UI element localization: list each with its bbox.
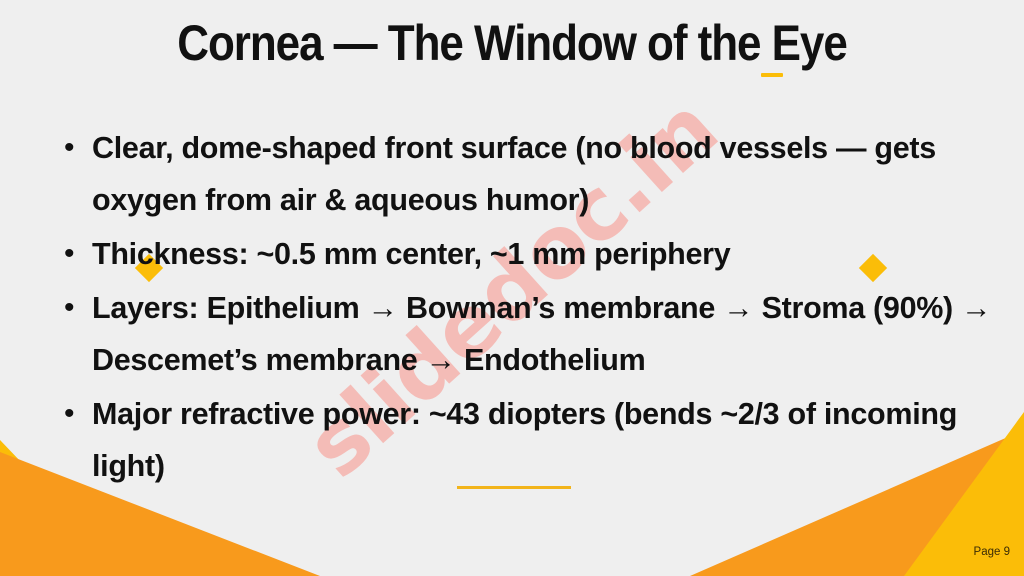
bullet-item-1: • Clear, dome-shaped front surface (no b… bbox=[56, 122, 1006, 226]
bullet-marker-icon: • bbox=[56, 388, 92, 440]
bullet-text-3: Layers: Epithelium → Bowman’s membrane →… bbox=[92, 282, 1006, 386]
body-accent-underline bbox=[457, 486, 571, 489]
bullet-text-1: Clear, dome-shaped front surface (no blo… bbox=[92, 122, 1006, 226]
title-accent-underline bbox=[761, 73, 783, 77]
bullet-text-2: Thickness: ~0.5 mm center, ~1 mm periphe… bbox=[92, 228, 1006, 280]
slide-canvas: slidedoc.in Cornea — The Window of the E… bbox=[0, 0, 1024, 576]
bullet-marker-icon: • bbox=[56, 282, 92, 334]
bullet-marker-icon: • bbox=[56, 122, 92, 174]
bullet-marker-icon: • bbox=[56, 228, 92, 280]
bullet-item-3: • Layers: Epithelium → Bowman’s membrane… bbox=[56, 282, 1006, 386]
bullet-item-2: • Thickness: ~0.5 mm center, ~1 mm perip… bbox=[56, 228, 1006, 280]
page-number-label: Page 9 bbox=[974, 546, 1010, 558]
bullet-text-4: Major refractive power: ~43 diopters (be… bbox=[92, 388, 1006, 492]
bullet-item-4: • Major refractive power: ~43 diopters (… bbox=[56, 388, 1006, 492]
slide-title: Cornea — The Window of the Eye bbox=[61, 16, 962, 71]
bullet-list: • Clear, dome-shaped front surface (no b… bbox=[56, 122, 1006, 494]
